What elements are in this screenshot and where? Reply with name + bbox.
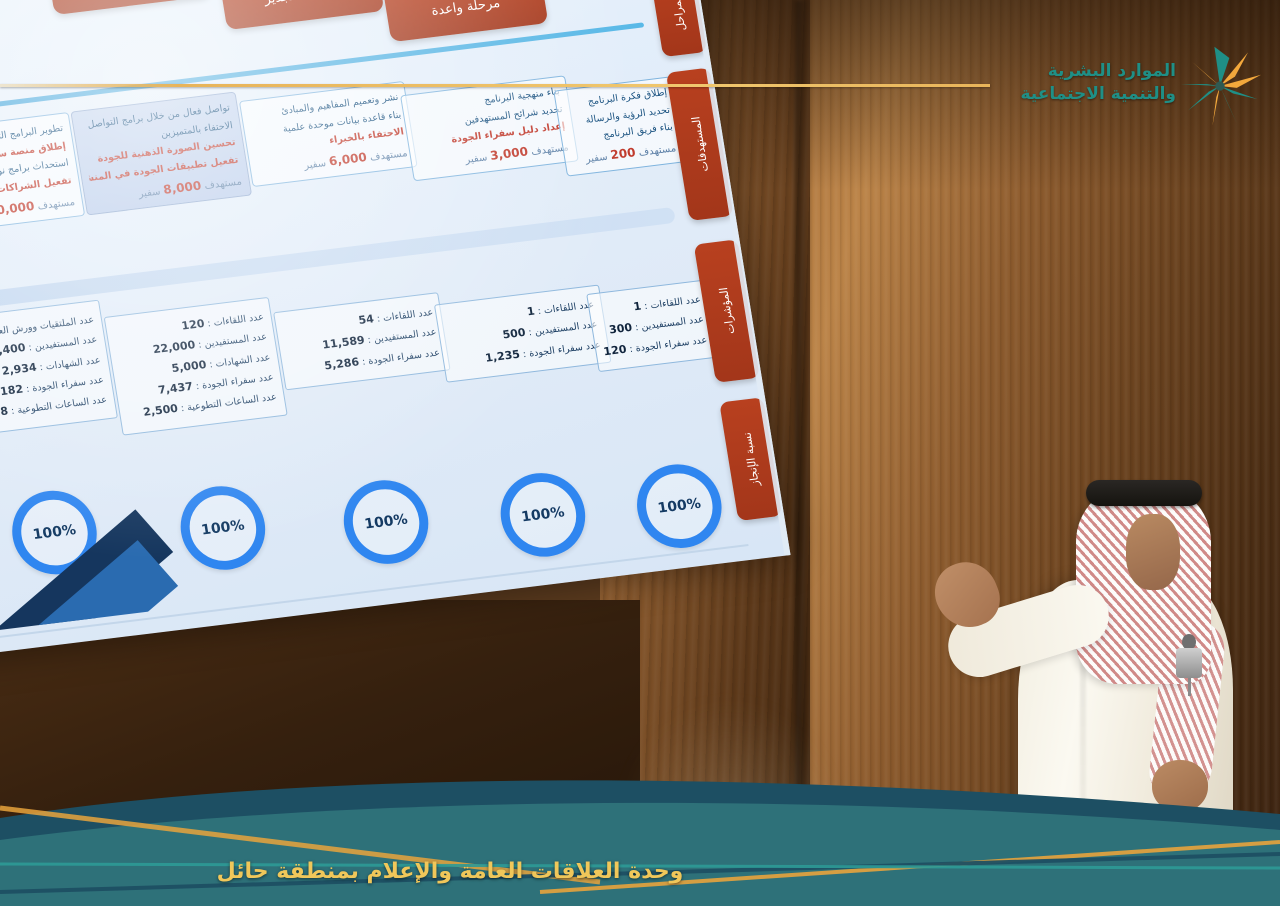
stage-name-2022: مرحلة التكيف (46, 0, 211, 15)
projection-screen: رحلة برنامج سفراء الجودة المواصفات السعو… (0, 0, 805, 749)
ministry-logo: الموارد البشرية والتنمية الاجتماعية (1002, 38, 1262, 134)
side-tab-label: المؤشرات (716, 287, 736, 335)
progress-ring-standards: 100% (495, 468, 592, 561)
stage-metrics-standards: عدد اللقاءات : 1 عدد المستفيدين : 500 عد… (434, 285, 612, 383)
target-label: مستهدف (638, 143, 677, 158)
metric-label: عدد اللقاءات (213, 312, 265, 329)
metric-value: 120 (603, 342, 628, 358)
target-unit: سفير (465, 152, 489, 166)
stage-metrics-2021: عدد اللقاءات : 54 عدد المستفيدين : 11,58… (273, 292, 451, 390)
target-value: 6,000 (328, 150, 368, 168)
target-unit: سفير (138, 186, 162, 200)
stage-desc-standards: بناء منهجية البرنامج تحديد شرائح المستهد… (400, 75, 579, 181)
target-unit: سفير (303, 158, 327, 172)
side-tab-label: المستهدفات (689, 116, 711, 173)
side-tab-stages[interactable]: المراحل (650, 0, 707, 57)
footer-caption: وحدة العلاقات العامة والإعلام بمنطقة حائ… (0, 859, 900, 884)
metric-value: 1 (633, 300, 643, 314)
metric-value: 11,589 (321, 334, 365, 352)
presenter-lower-hand (1152, 760, 1208, 812)
progress-value: 100% (657, 496, 703, 517)
metric-value: 54 (358, 312, 375, 327)
gold-divider-rule (0, 84, 990, 87)
metric-label: عدد اللقاءات (382, 307, 434, 324)
stage-desc-2023: تطوير البرامج التدريبية إطلاق منصة سفراء… (0, 112, 85, 236)
target-value: 200 (609, 145, 636, 162)
stage-desc-2022: تواصل فعال من خلال برامج التواصل الاحتفا… (70, 92, 252, 216)
stage-desc-2020: إطلاق فكرة البرنامج تحديد الرؤية والرسال… (553, 76, 686, 177)
stage-column-2021[interactable]: 2021 مرحلة التجذير (211, 0, 385, 30)
ministry-line-1: الموارد البشرية (1020, 60, 1176, 83)
metric-value: 5,286 (323, 355, 360, 372)
metric-label: عدد الشهادات (45, 355, 101, 373)
metric-label: عدد اللقاءات (650, 294, 702, 311)
metric-value: 120 (181, 317, 206, 333)
metric-value: 20,400 (0, 341, 27, 359)
stage-target-2023: مستهدف 10,000 سفير (0, 194, 76, 226)
ministry-logo-text: الموارد البشرية والتنمية الاجتماعية (1020, 60, 1176, 106)
metric-value: 1 (526, 305, 536, 319)
side-tab-label: المراحل (669, 0, 688, 32)
stage-column-2020[interactable]: 2020 مرحلة واعدة (375, 0, 549, 42)
stage-metrics-2020: عدد اللقاءات : 1 عدد المستفيدين : 300 عد… (586, 279, 718, 372)
side-tab-label: نسبة الإنجاز (740, 432, 762, 487)
target-label: مستهدف (37, 197, 76, 212)
progress-ring-2020: 100% (631, 460, 728, 553)
saudi-vision-starburst-icon (1178, 42, 1262, 130)
slide-corner-decoration (0, 361, 261, 638)
metric-value: 2,934 (1, 360, 38, 377)
presentation-photo: رحلة برنامج سفراء الجودة المواصفات السعو… (0, 0, 1280, 906)
metric-value: 500 (502, 326, 527, 342)
metric-value: 1,235 (484, 347, 521, 364)
progress-value: 100% (363, 512, 409, 533)
metric-label: عدد سفراء الجودة (635, 334, 708, 354)
stage-column-2022[interactable]: 2022 مرحلة التكيف (38, 0, 212, 15)
progress-value: 100% (520, 504, 566, 525)
stage-desc-2021: نشر وتعميم المفاهيم والمبادئ بناء قاعدة … (239, 81, 418, 187)
metric-value: 300 (608, 321, 633, 337)
ministry-line-2: والتنمية الاجتماعية (1020, 83, 1176, 106)
target-value: 8,000 (162, 178, 202, 196)
metric-label: عدد سفراء الجودة (367, 347, 440, 367)
stage-name-2021: مرحلة التجذير (219, 0, 384, 30)
id-badge-icon (1176, 648, 1202, 678)
target-label: مستهدف (369, 148, 408, 163)
metric-value: 22,000 (152, 339, 196, 357)
presenter-face (1126, 514, 1180, 590)
target-unit: سفير (585, 152, 609, 166)
igal-cord (1086, 480, 1202, 506)
target-label: مستهدف (204, 176, 243, 191)
slide-surface: رحلة برنامج سفراء الجودة المواصفات السعو… (0, 0, 791, 660)
target-value: 10,000 (0, 199, 35, 218)
progress-ring-2021: 100% (338, 475, 435, 568)
stage-name-2020: مرحلة واعدة (383, 0, 548, 42)
metric-label: عدد سفراء الجودة (528, 339, 601, 359)
presenter (930, 470, 1280, 906)
target-value: 3,000 (489, 145, 529, 163)
